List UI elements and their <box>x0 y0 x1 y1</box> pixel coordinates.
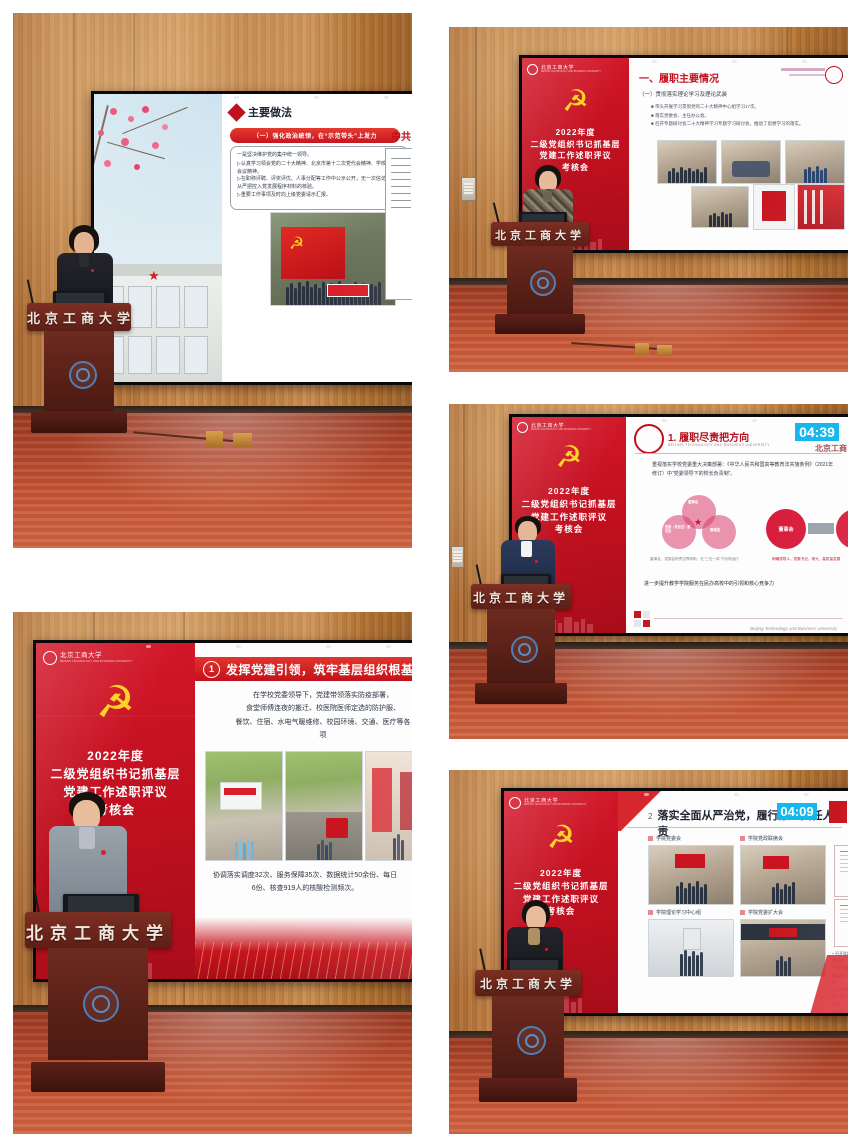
podium-name: 北京工商大学 <box>471 589 571 606</box>
slide-photo-campus <box>205 751 283 861</box>
university-seal <box>69 361 97 389</box>
slide-document <box>834 845 848 897</box>
bullet-item: ▷重要工作事项及时向上级党委请示汇报。 <box>237 192 401 200</box>
slide-document <box>834 899 848 947</box>
slide-textbox: 一是坚决维护党的集中统一领导。 ▷认真学习领会党的二十大精神、北京市第十二次党代… <box>230 146 408 210</box>
slide-photo-banner <box>797 184 845 230</box>
panel-right-bottom[interactable]: 北京工商大学 BEIJING TECHNOLOGY AND BUSINESS U… <box>449 770 848 1134</box>
bullet-item: ▷认真学习领会党的二十大精神、北京市第十二次党代会精神、学校党代会会议精神。 <box>237 161 401 177</box>
slide-body: 1 发挥党建引领，筑牢基层组织根基 在学校党委领导下，党建带领落实防疫部署， 食… <box>195 643 412 979</box>
podium: 北京工商大学 <box>25 912 171 1092</box>
slide-photo <box>691 186 749 228</box>
slide-photo <box>740 845 826 905</box>
slide-photo <box>657 140 717 184</box>
auditorium-scene: 北京工商大学 BEIJING TECHNOLOGY AND BUSINESS U… <box>13 612 412 1134</box>
slide-paragraph: 餐饮、住宿、水电气暖维修、校园环境、交通、医疗等各项 <box>235 716 411 743</box>
circles-caption: 明确领导人、党委书记，带头、高质量发展 <box>772 557 848 562</box>
podium-name: 北京工商大学 <box>475 975 581 992</box>
wall-switch[interactable] <box>451 546 464 568</box>
hammer-sickle-icon: ☭ <box>562 87 589 117</box>
floor-box <box>657 345 672 356</box>
university-logo: 北京工商大学 BEIJING TECHNOLOGY AND BUSINESS U… <box>43 651 133 665</box>
bullet-item: ▷在职称评聘、评奖评优、人事分配等工作中公示公开，无一次信访事项，从严把控入党发… <box>237 176 401 192</box>
caption-marker-icon <box>648 910 653 915</box>
podium-name: 北京工商大学 <box>25 919 171 944</box>
led-screen: ★ 主要做法 （一）强化政治统领，在“示范带头”上发力 一是坚决维护党的集中统一… <box>91 91 412 385</box>
slide-number: 1 <box>203 661 220 678</box>
slide-footer: Beijing Technology and Business Universi… <box>750 626 837 631</box>
diamond-bullet-icon <box>227 103 245 121</box>
caption-marker-icon <box>740 836 745 841</box>
double-arrow-icon <box>808 523 834 534</box>
university-logo: 北京工商大学 BEIJING TECHNOLOGY AND BUSINESS U… <box>527 64 601 75</box>
university-seal <box>530 270 556 296</box>
university-seal <box>517 1026 546 1055</box>
hammer-sickle-icon: ☭ <box>547 821 576 853</box>
bullet-item: ■ 带头开展学习贯彻党的二十大精神中心组学习17次。 <box>651 103 803 112</box>
slide-photo <box>648 845 734 905</box>
slide-title: 一、履职主要情况 <box>639 70 719 85</box>
university-logo: 北京工商大学 BEIJING TECHNOLOGY AND BUSINESS U… <box>509 797 587 809</box>
panel-right-middle[interactable]: 北京工商大学 BEIJING TECHNOLOGY AND BUSINESS U… <box>449 404 848 739</box>
slide-side-table <box>385 148 412 300</box>
screen-content: ★ 主要做法 （一）强化政治统领，在“示范带头”上发力 一是坚决维护党的集中统一… <box>94 94 412 382</box>
wall-switch[interactable] <box>461 177 476 201</box>
slide-paragraph: 食堂师傅连夜的搬迁、校医院医师定选的防护服、 <box>235 702 411 715</box>
slide-photo-flag-group: ☭ <box>270 212 396 306</box>
stats-line: 6份、核查919人的核酸检测频次。 <box>199 882 411 895</box>
university-seal <box>83 986 119 1022</box>
slide-photo <box>648 919 734 977</box>
slide-photo-doc <box>753 184 795 230</box>
university-logo: 北京工商大学 BEIJING TECHNOLOGY AND BUSINESS U… <box>517 422 591 433</box>
slide-side-text: 中共 <box>391 128 411 143</box>
slide-subtitle: （一）贯彻落实理论学习及理论武装 <box>639 90 727 98</box>
slide-title: 主要做法 <box>248 104 292 120</box>
circle-board: 董事会 <box>766 509 806 549</box>
slide-photo <box>785 140 845 184</box>
university-mini-logo <box>825 66 843 84</box>
caption-marker-icon <box>740 910 745 915</box>
star-icon: ★ <box>694 517 702 528</box>
hammer-sickle-icon: ☭ <box>96 681 135 725</box>
slide-ribbon-decor <box>195 917 412 979</box>
slide-body-text: 重视落实学校党委重大决策部署：《中华人民共和国高等教育法实施条例》（2021年修… <box>652 461 837 479</box>
auditorium-scene: 北京工商大学 BEIJING TECHNOLOGY AND BUSINESS U… <box>449 27 848 372</box>
university-seal <box>511 636 538 663</box>
caption-marker-icon <box>648 836 653 841</box>
photo-caption: 学院党委会 <box>656 835 681 842</box>
section-pill: （一）强化政治统领，在“示范带头”上发力 <box>230 128 400 143</box>
slide-paragraph: 在学校党委领导下，党建带领落实防疫部署， <box>235 689 411 702</box>
slide-photo <box>740 919 826 977</box>
slide-corner-mark <box>829 801 847 823</box>
slide-photo-indoor <box>365 751 412 861</box>
slide-photo-campus <box>285 751 363 861</box>
slide-body: 2 落实全面从严治党，履行第一责任人职责 04:09 学院党委会 <box>618 791 848 1013</box>
bullet-item: ■ 落实党委会、主任办公会。 <box>651 112 803 121</box>
slide-photo <box>721 140 781 184</box>
stats-line: 协调落实调度32次、服务保障35次、数据统计50余份、每日 <box>199 869 411 882</box>
hammer-sickle-icon: ☭ <box>289 235 304 252</box>
slide-title: 发挥党建引领，筑牢基层组织根基 <box>226 661 412 678</box>
podium-name: 北京工商大学 <box>491 227 589 243</box>
circle-party: 党 委 <box>836 509 848 549</box>
floor-box <box>233 433 252 447</box>
slide-body: 一、履职主要情况 （一）贯彻落实理论学习及理论武装 ■ 带头开展学习贯彻党的二十… <box>629 58 848 250</box>
podium: 北京工商大学 <box>491 222 589 334</box>
countdown-timer: 04:09 <box>777 803 817 820</box>
body-lead: 一是坚决维护党的集中统一领导。 <box>237 152 401 160</box>
panel-right-top[interactable]: 北京工商大学 BEIJING TECHNOLOGY AND BUSINESS U… <box>449 27 848 372</box>
hammer-sickle-icon: ☭ <box>556 443 583 473</box>
auditorium-scene: 北京工商大学 BEIJING TECHNOLOGY AND BUSINESS U… <box>449 404 848 739</box>
slide-title-sub: BEIJING TECHNOLOGY AND BUSINESS UNIVERSI… <box>668 443 770 447</box>
slide-body: 主要做法 （一）强化政治统领，在“示范带头”上发力 一是坚决维护党的集中统一领导… <box>222 94 412 382</box>
venn-caption: 董事会、党委会职责边界明晰，在“三位一体”下协同运行 <box>650 557 746 562</box>
slide-title: 1. 履职尽责把方向 <box>668 429 749 444</box>
bullet-item: ■ 召开专题研讨会二十大精神学习专题学习研讨会，推动了思想学习的落实。 <box>651 120 803 129</box>
countdown-timer: 04:39 <box>795 423 839 441</box>
slide-body: 1. 履职尽责把方向 BEIJING TECHNOLOGY AND BUSINE… <box>626 417 848 633</box>
panel-top-left[interactable]: ★ 主要做法 （一）强化政治统领，在“示范带头”上发力 一是坚决维护党的集中统一… <box>13 13 412 548</box>
floor-box <box>206 431 223 447</box>
podium: 北京工商大学 <box>475 970 581 1102</box>
panel-bottom-left[interactable]: 北京工商大学 BEIJING TECHNOLOGY AND BUSINESS U… <box>13 612 412 1134</box>
auditorium-scene: 北京工商大学 BEIJING TECHNOLOGY AND BUSINESS U… <box>449 770 848 1134</box>
photo-caption: 学院党政联席会 <box>748 835 783 842</box>
university-mini-logo <box>634 424 664 454</box>
slide-summary: 进一步提升教学学院服务在民办高校中的引领和核心竞争力 <box>644 580 841 587</box>
podium-name: 北京工商大学 <box>27 308 131 327</box>
slide-number: 2 <box>648 812 652 821</box>
slide-stats: 协调落实调度32次、服务保障35次、数据统计50余份、每日 6份、核查919人的… <box>199 869 411 896</box>
photo-caption: 学院党委扩大会 <box>748 909 783 916</box>
auditorium-scene: ★ 主要做法 （一）强化政治统领，在“示范带头”上发力 一是坚决维护党的集中统一… <box>13 13 412 548</box>
venn-diagram: ★ 董事会 党委（党总支）委员会 管理层 <box>658 495 738 551</box>
podium: 北京工商大学 <box>27 303 131 433</box>
photo-caption: 学院理论学习中心组 <box>656 909 701 916</box>
floor-box <box>635 343 649 355</box>
photo-collage: ★ 主要做法 （一）强化政治统领，在“示范带头”上发力 一是坚决维护党的集中统一… <box>0 0 861 1147</box>
podium: 北京工商大学 <box>471 584 571 704</box>
slide-title-bar: 1 发挥党建引领，筑牢基层组织根基 <box>195 657 412 681</box>
